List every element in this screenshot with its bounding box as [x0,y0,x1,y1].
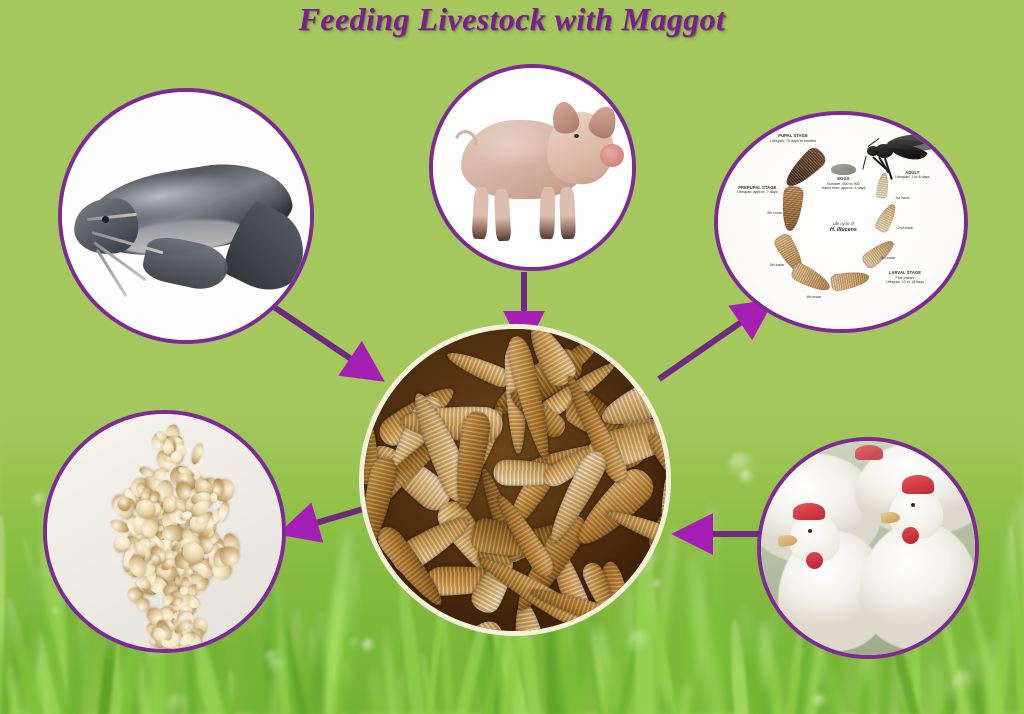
stage-label-eggs: EGGS Number: 500 to 900 Hatch time: appr… [811,177,875,191]
dew-drop [166,693,189,714]
meal-crumb [190,442,206,465]
fly-head [867,146,879,156]
maggot-pile-photo [364,329,666,631]
node-pig[interactable] [429,64,636,271]
larva-illustration [859,236,898,271]
meal-crumb [218,500,230,522]
instar-label-6: 6th instar [767,211,782,215]
pig-snout [600,144,624,168]
instar-label-1: 1st instar [895,196,910,200]
chicken-wattle-right [902,527,919,544]
pig-leg [471,187,489,239]
stage-label-pupal: PUPAL STAGE Lifespan: 70 days to months [752,134,833,143]
eggs-illustration [831,164,856,175]
broiler-chicken-photo [761,441,975,655]
chicken-body-front-right [859,522,979,650]
dew-drop [265,650,279,664]
larva-illustration [789,261,834,296]
maggot-meal-crumbs [47,414,282,649]
chicken-comb-left [793,503,825,520]
maggot-meal-photo [47,414,282,649]
fly-leg [862,155,867,169]
stage-label-larval: LARVAL STAGE Five instars Lifespan: 13 t… [866,271,945,285]
chicken-eye-left [808,529,812,533]
maggot-larvae [364,329,666,631]
infographic-canvas: Feeding Livestock with Maggot [0,0,1024,714]
chicken-comb-right [902,475,934,494]
catfish-eye [102,216,109,223]
stage-label-adult: ADULT Lifespan: 1 to 8 days [875,171,949,180]
chicken-comb-back [855,445,883,460]
node-maggot-meal[interactable] [43,410,286,653]
page-title: Feeding Livestock with Maggot [0,0,1024,39]
pig-leg [540,187,557,239]
stage-label-prepupal: PREPUPAL STAGE Lifespan: approx. 7 days [723,186,792,195]
dew-drop [349,637,361,649]
node-catfish[interactable] [58,88,314,344]
dew-drop [33,494,45,506]
pig-photo [433,68,632,267]
larva-illustration [829,268,870,292]
pig-leg [559,187,576,239]
meal-crumb [220,547,240,566]
instar-label-4: 4th instar [807,295,822,299]
chicken-eye-right [911,503,915,507]
node-chickens[interactable] [757,437,979,659]
instar-label-5: 5th instar [770,263,785,267]
instar-label-2: 2nd instar [898,226,914,230]
life-cycle-diagram: PUPAL STAGE Lifespan: 70 days to months … [718,115,964,329]
instar-label-3: 3rd instar [880,256,895,260]
meal-crumb [151,553,161,566]
pig-leg [493,189,511,241]
pig-eye [574,134,579,138]
dew-drop [628,630,651,653]
life-cycle-center-label: Life cycle of H. illucens [807,222,881,233]
node-maggots[interactable] [359,324,671,636]
node-life-cycle[interactable]: PUPAL STAGE Lifespan: 70 days to months … [714,111,968,333]
catfish-photo [62,92,310,340]
